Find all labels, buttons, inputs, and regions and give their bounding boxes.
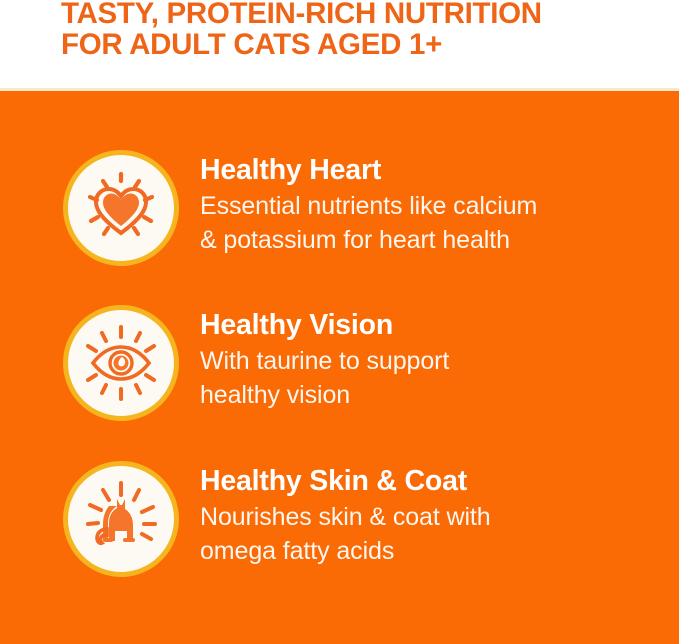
radiant-cat-icon — [63, 461, 179, 577]
benefit-heading: Healthy Heart — [200, 153, 670, 187]
benefit-description: Nourishes skin & coat with omega fatty a… — [200, 498, 670, 568]
benefit-text-healthy-skin-coat: Healthy Skin & Coat Nourishes skin & coa… — [200, 464, 670, 568]
benefit-text-healthy-vision: Healthy Vision With taurine to support h… — [200, 308, 670, 412]
benefit-heading: Healthy Vision — [200, 308, 670, 342]
benefit-text-healthy-heart: Healthy Heart Essential nutrients like c… — [200, 153, 670, 257]
page-title: TASTY, PROTEIN-RICH NUTRITION FOR ADULT … — [61, 0, 661, 60]
benefit-description: With taurine to support healthy vision — [200, 342, 670, 412]
product-benefits-infographic: TASTY, PROTEIN-RICH NUTRITION FOR ADULT … — [0, 0, 679, 644]
radiant-heart-icon — [63, 150, 179, 266]
radiant-eye-icon — [63, 305, 179, 421]
benefit-heading: Healthy Skin & Coat — [200, 464, 670, 498]
benefit-description: Essential nutrients like calcium & potas… — [200, 187, 670, 257]
header-band: TASTY, PROTEIN-RICH NUTRITION FOR ADULT … — [0, 0, 679, 90]
